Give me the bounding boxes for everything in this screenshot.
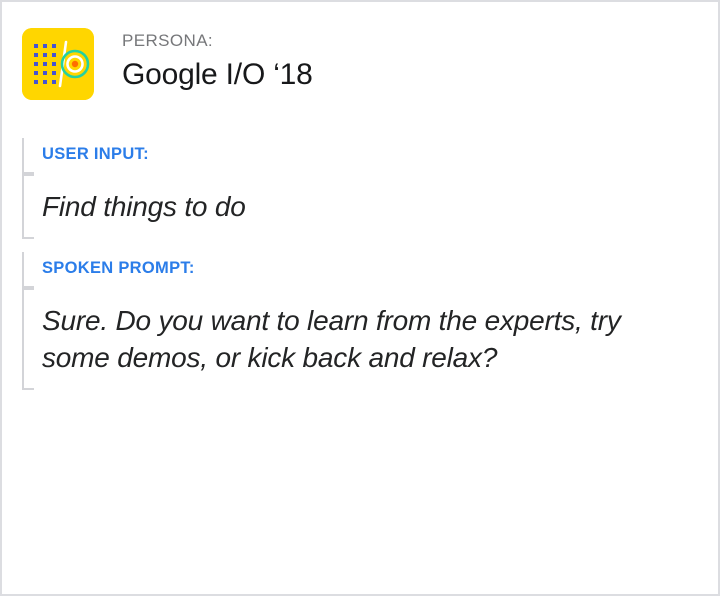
user-input-label: USER INPUT: [42, 146, 246, 163]
persona-card: PERSONA: Google I/O ‘18 USER INPUT: Find… [0, 0, 720, 596]
user-input-quote-bracket: Find things to do [22, 174, 246, 239]
google-io-logo-icon [22, 28, 94, 100]
spoken-prompt-text: Sure. Do you want to learn from the expe… [42, 302, 672, 376]
spoken-prompt-quote-bracket: Sure. Do you want to learn from the expe… [22, 288, 672, 390]
persona-text-group: PERSONA: Google I/O ‘18 [122, 28, 313, 94]
spoken-prompt-label-bracket: SPOKEN PROMPT: [22, 252, 672, 288]
bracket-bottom-tick [22, 237, 34, 239]
persona-label: PERSONA: [122, 30, 313, 51]
bracket-bottom-tick [22, 388, 34, 390]
spoken-prompt-label: SPOKEN PROMPT: [42, 260, 672, 277]
user-input-label-bracket: USER INPUT: [22, 138, 246, 174]
persona-header: PERSONA: Google I/O ‘18 [22, 28, 313, 100]
user-input-text: Find things to do [42, 188, 246, 225]
section-spoken-prompt: SPOKEN PROMPT: Sure. Do you want to lear… [22, 252, 672, 390]
persona-name: Google I/O ‘18 [122, 55, 313, 94]
section-user-input: USER INPUT: Find things to do [22, 138, 246, 239]
